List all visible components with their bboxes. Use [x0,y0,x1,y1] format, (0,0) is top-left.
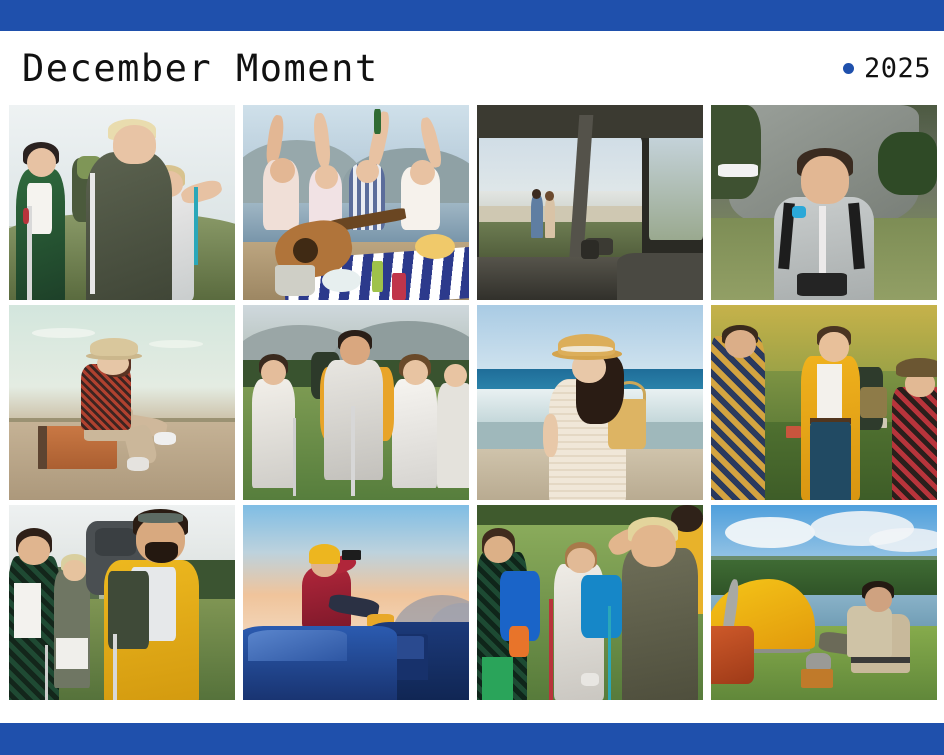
photo-grassy-hike [477,505,703,700]
photo-meadow-group [243,305,469,500]
gallery-photo-10[interactable] [243,505,469,700]
photo-drone-pilot [711,105,937,300]
gallery-photo-1[interactable] [9,105,235,300]
photo-hikers-selfie [9,105,235,300]
photo-autumn-hikers [711,305,937,500]
gallery-photo-5[interactable] [9,305,235,500]
photo-car-roof-sunset [243,505,469,700]
photo-ocean-woman [477,305,703,500]
year-label: 2025 [864,55,931,82]
page-header: December Moment 2025 [0,31,944,105]
gallery-photo-9[interactable] [9,505,235,700]
gallery-photo-7[interactable] [477,305,703,500]
photo-suitcase-traveller [9,305,235,500]
page-title: December Moment [22,50,379,87]
gallery-photo-11[interactable] [477,505,703,700]
gallery-photo-8[interactable] [711,305,937,500]
photo-backpack-leader [9,505,235,700]
photo-van-window-couple [477,105,703,300]
photo-lake-camping [711,505,937,700]
photo-gallery-grid [9,105,936,701]
gallery-photo-6[interactable] [243,305,469,500]
bottom-accent-bar [0,723,944,755]
gallery-photo-4[interactable] [711,105,937,300]
year-badge: 2025 [843,55,931,82]
top-accent-bar [0,0,944,31]
gallery-photo-3[interactable] [477,105,703,300]
gallery-photo-2[interactable] [243,105,469,300]
bullet-dot-icon [843,63,854,74]
photo-beach-party [243,105,469,300]
calendar-page: December Moment 2025 [0,0,944,755]
gallery-photo-12[interactable] [711,505,937,700]
